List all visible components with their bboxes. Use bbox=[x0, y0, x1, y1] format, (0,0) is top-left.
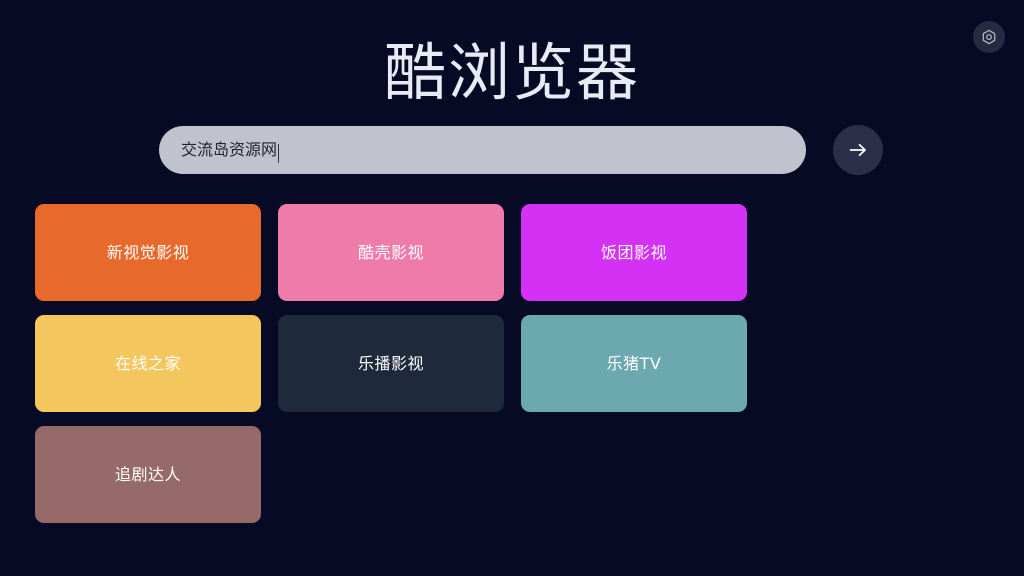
search-input-value: 交流岛资源网 bbox=[181, 140, 277, 160]
shortcut-grid: 新视觉影视 酷壳影视 饭团影视 在线之家 乐播影视 乐猪TV 追剧达人 bbox=[35, 204, 989, 523]
shortcut-tile[interactable]: 乐猪TV bbox=[521, 315, 747, 412]
shortcut-tile-label: 饭团影视 bbox=[601, 242, 667, 264]
shortcut-tile-label: 乐猪TV bbox=[607, 353, 662, 375]
shortcut-tile-label: 在线之家 bbox=[115, 353, 181, 375]
shortcut-tile-label: 乐播影视 bbox=[358, 353, 424, 375]
search-submit-button[interactable] bbox=[833, 125, 883, 175]
shortcut-tile[interactable]: 追剧达人 bbox=[35, 426, 261, 523]
shortcut-tile-label: 新视觉影视 bbox=[107, 242, 190, 264]
page-title: 酷浏览器 bbox=[0, 34, 1024, 112]
shortcut-tile[interactable]: 饭团影视 bbox=[521, 204, 747, 301]
shortcut-tile[interactable]: 乐播影视 bbox=[278, 315, 504, 412]
shortcut-tile[interactable]: 新视觉影视 bbox=[35, 204, 261, 301]
text-caret bbox=[278, 144, 279, 163]
shortcut-tile-label: 酷壳影视 bbox=[358, 242, 424, 264]
search-row: 交流岛资源网 bbox=[159, 125, 883, 175]
shortcut-tile-label: 追剧达人 bbox=[115, 464, 181, 486]
shortcut-tile[interactable]: 酷壳影视 bbox=[278, 204, 504, 301]
shortcut-tile[interactable]: 在线之家 bbox=[35, 315, 261, 412]
arrow-right-icon bbox=[846, 138, 870, 162]
search-input[interactable]: 交流岛资源网 bbox=[159, 126, 806, 174]
